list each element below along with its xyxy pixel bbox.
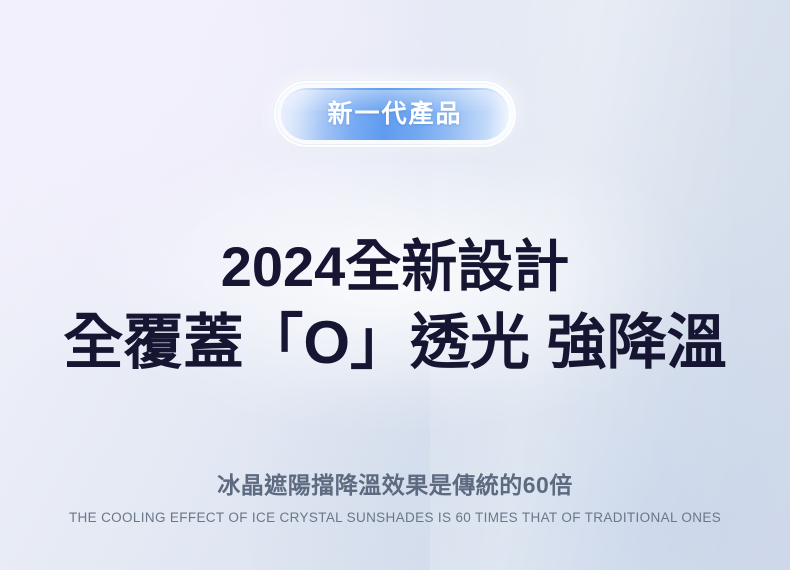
hero-content: 新一代產品 2024全新設計 全覆蓋「O」透光 強降溫 冰晶遮陽擋降溫效果是傳統… (0, 0, 790, 570)
hero-banner: 新一代產品 2024全新設計 全覆蓋「O」透光 強降溫 冰晶遮陽擋降溫效果是傳統… (0, 0, 790, 570)
new-generation-badge[interactable]: 新一代產品 (281, 88, 508, 140)
page-title: 2024全新設計 全覆蓋「O」透光 強降溫 (0, 236, 790, 376)
headline-line-1: 2024全新設計 (0, 236, 790, 299)
badge-container: 新一代產品 (0, 88, 790, 140)
badge-label: 新一代產品 (327, 102, 462, 127)
subtitle-english: THE COOLING EFFECT OF ICE CRYSTAL SUNSHA… (0, 510, 790, 525)
headline-line-2: 全覆蓋「O」透光 強降溫 (0, 309, 790, 376)
subtitle-chinese: 冰晶遮陽擋降溫效果是傳統的60倍 (0, 466, 790, 500)
